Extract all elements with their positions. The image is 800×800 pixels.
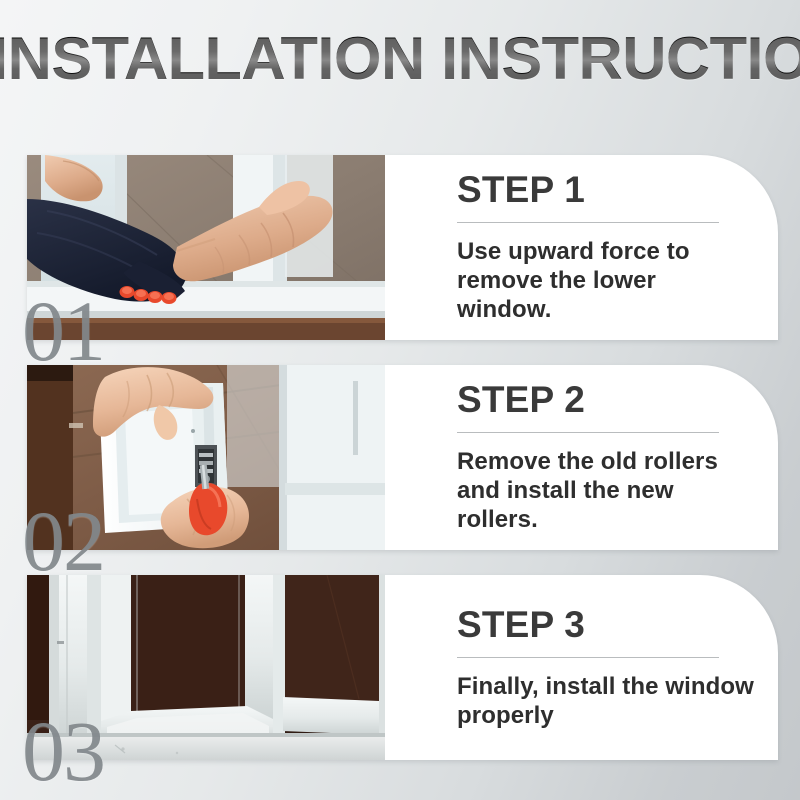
step-text-block: STEP 2 Remove the old rollers and instal… xyxy=(457,365,757,550)
photo-illustration xyxy=(27,575,385,760)
step-divider xyxy=(457,657,719,658)
page-title: INSTALLATION INSTRUCTIONS xyxy=(0,28,800,90)
step-body: Finally, install the window properly xyxy=(457,672,757,730)
photo-installed-window-closeup xyxy=(27,575,385,760)
step-heading: STEP 2 xyxy=(457,381,757,419)
step-body: Remove the old rollers and install the n… xyxy=(457,447,757,534)
steps-list: STEP 1 Use upward force to remove the lo… xyxy=(0,155,800,785)
photo-illustration xyxy=(27,365,385,550)
photo-hands-lifting-window xyxy=(27,155,385,340)
step-divider xyxy=(457,222,719,223)
step-heading: STEP 3 xyxy=(457,606,757,644)
step-text-block: STEP 1 Use upward force to remove the lo… xyxy=(457,155,757,340)
step-heading: STEP 1 xyxy=(457,171,757,209)
step-body: Use upward force to remove the lower win… xyxy=(457,237,757,324)
step-row: STEP 1 Use upward force to remove the lo… xyxy=(0,155,800,340)
step-card: STEP 1 Use upward force to remove the lo… xyxy=(27,155,778,340)
page-header: INSTALLATION INSTRUCTIONS xyxy=(0,28,800,90)
step-text-block: STEP 3 Finally, install the window prope… xyxy=(457,575,757,760)
step-row: STEP 3 Finally, install the window prope… xyxy=(0,575,800,760)
step-divider xyxy=(457,432,719,433)
step-card: STEP 2 Remove the old rollers and instal… xyxy=(27,365,778,550)
photo-illustration xyxy=(27,155,385,340)
photo-hands-replacing-rollers xyxy=(27,365,385,550)
step-card: STEP 3 Finally, install the window prope… xyxy=(27,575,778,760)
step-row: STEP 2 Remove the old rollers and instal… xyxy=(0,365,800,550)
